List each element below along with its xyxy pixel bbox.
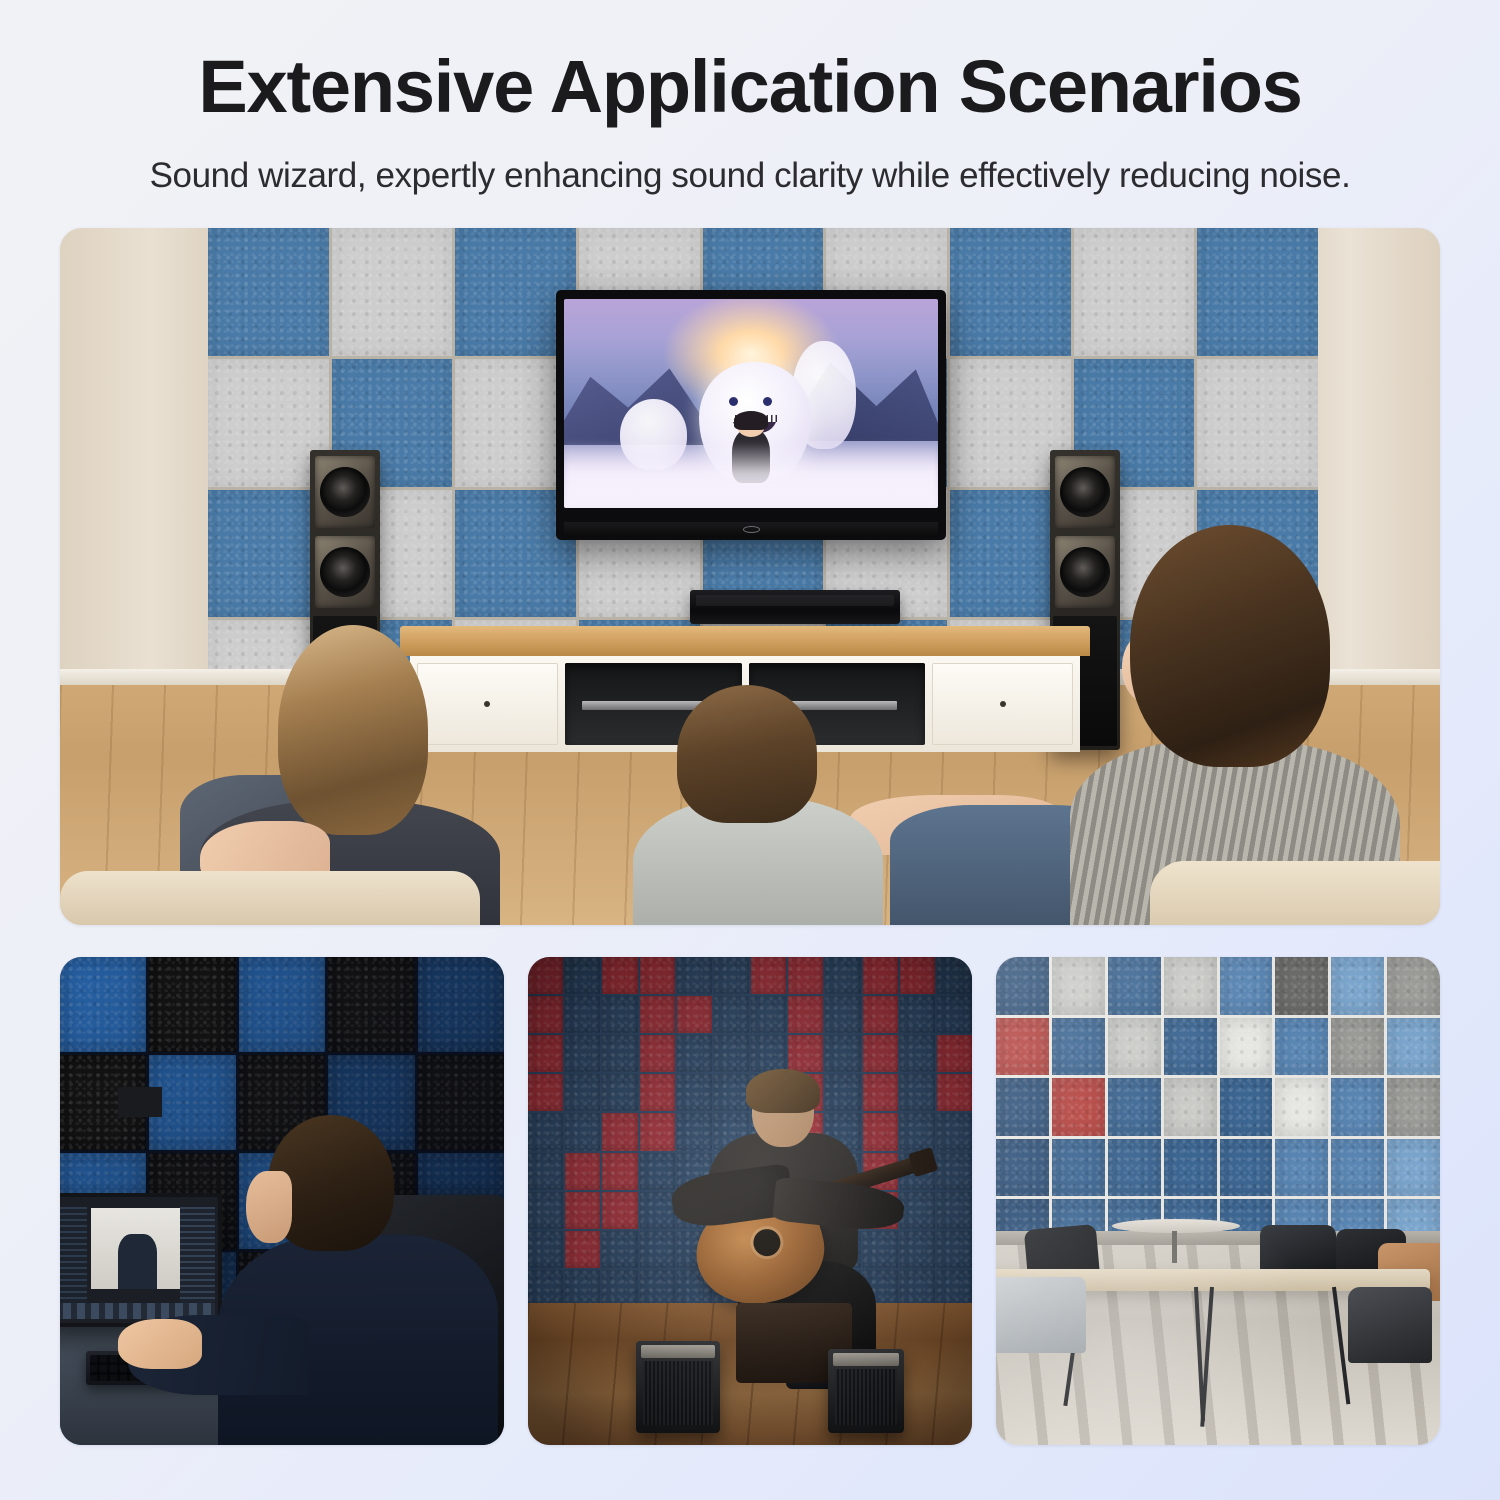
scenario-card-office[interactable] bbox=[996, 957, 1440, 1445]
viewer-child-center bbox=[615, 685, 915, 925]
room-lighting-overlay bbox=[996, 957, 1440, 1445]
console-door-right[interactable] bbox=[932, 663, 1073, 745]
editor-left-panel bbox=[60, 1207, 87, 1313]
console-oak-top bbox=[400, 626, 1090, 656]
speaker-driver-top bbox=[315, 456, 375, 528]
video-preview bbox=[91, 1208, 180, 1289]
cloud-layer bbox=[564, 441, 938, 508]
speaker-driver-bottom bbox=[315, 536, 375, 608]
tv-brand-logo bbox=[743, 526, 760, 533]
scenario-card-music-room[interactable] bbox=[528, 957, 972, 1445]
sofa-cushion-right bbox=[1150, 861, 1440, 925]
music-room-scene bbox=[528, 957, 972, 1445]
monitor-screen bbox=[60, 1197, 218, 1323]
tv-screen bbox=[564, 299, 938, 508]
room-lighting-overlay bbox=[528, 957, 972, 1445]
sofa-cushion-left bbox=[60, 871, 480, 925]
scenario-card-home-studio[interactable] bbox=[60, 957, 504, 1445]
page-title: Extensive Application Scenarios bbox=[60, 48, 1440, 126]
soundbar[interactable] bbox=[690, 590, 900, 624]
monitor[interactable] bbox=[60, 1193, 222, 1327]
scenario-card-living-room[interactable] bbox=[60, 228, 1440, 925]
monitor-stand bbox=[118, 1087, 162, 1117]
seated-person bbox=[228, 1115, 498, 1445]
home-studio-scene bbox=[60, 957, 504, 1445]
office-scene bbox=[996, 957, 1440, 1445]
wall-mounted-television[interactable] bbox=[556, 290, 946, 540]
editor-right-panel bbox=[180, 1207, 214, 1313]
scenario-tile-row bbox=[60, 957, 1440, 1445]
living-room-scene bbox=[60, 228, 1440, 925]
tv-bezel-bottom bbox=[564, 522, 938, 537]
page-subtitle: Sound wizard, expertly enhancing sound c… bbox=[60, 156, 1440, 196]
header: Extensive Application Scenarios Sound wi… bbox=[0, 0, 1500, 196]
scenario-gallery bbox=[60, 228, 1440, 1445]
speaker-driver-top bbox=[1055, 456, 1115, 528]
